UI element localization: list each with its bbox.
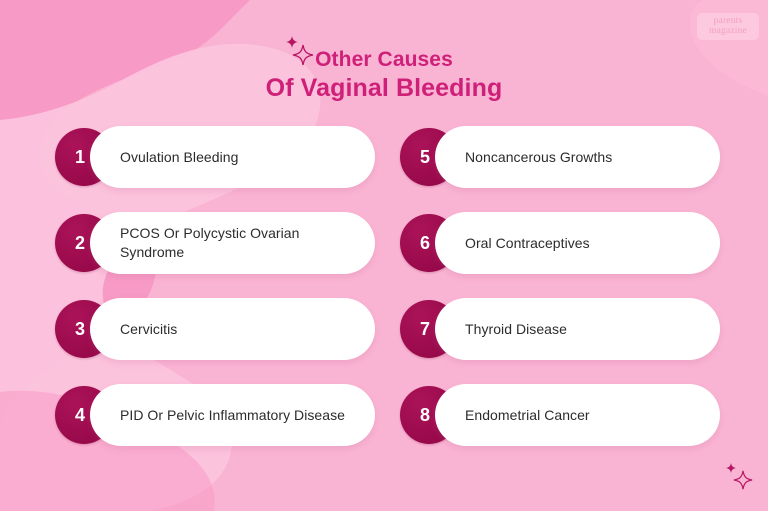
item-card[interactable]: Endometrial Cancer <box>435 384 720 446</box>
brand-logo-line2: magazine <box>709 27 747 37</box>
item-card[interactable]: Oral Contraceptives <box>435 212 720 274</box>
item-label: PCOS Or Polycystic Ovarian Syndrome <box>90 224 375 262</box>
item-card[interactable]: PID Or Pelvic Inflammatory Disease <box>90 384 375 446</box>
item-label: Thyroid Disease <box>435 320 585 339</box>
item-number: 4 <box>75 406 85 424</box>
item-number: 7 <box>420 320 430 338</box>
list-item[interactable]: 3 Cervicitis <box>55 298 385 360</box>
item-label: Oral Contraceptives <box>435 234 608 253</box>
item-label: PID Or Pelvic Inflammatory Disease <box>90 406 363 425</box>
item-number: 8 <box>420 406 430 424</box>
list-item[interactable]: 6 Oral Contraceptives <box>400 212 730 274</box>
item-card[interactable]: Ovulation Bleeding <box>90 126 375 188</box>
item-label: Noncancerous Growths <box>435 148 630 167</box>
sparkle-icon-top-large <box>292 44 314 66</box>
item-number: 5 <box>420 148 430 166</box>
item-card[interactable]: Noncancerous Growths <box>435 126 720 188</box>
list-item[interactable]: 2 PCOS Or Polycystic Ovarian Syndrome <box>55 212 385 274</box>
brand-logo: parents magazine <box>697 13 759 40</box>
item-number: 1 <box>75 148 85 166</box>
item-number: 3 <box>75 320 85 338</box>
item-number: 2 <box>75 234 85 252</box>
item-card[interactable]: PCOS Or Polycystic Ovarian Syndrome <box>90 212 375 274</box>
sparkle-icon-bottom-large <box>733 470 753 490</box>
list-item[interactable]: 5 Noncancerous Growths <box>400 126 730 188</box>
list-item[interactable]: 4 PID Or Pelvic Inflammatory Disease <box>55 384 385 446</box>
list-item[interactable]: 7 Thyroid Disease <box>400 298 730 360</box>
item-label: Cervicitis <box>90 320 195 339</box>
causes-column-right: 5 Noncancerous Growths 6 Oral Contracept… <box>400 126 730 470</box>
item-card[interactable]: Cervicitis <box>90 298 375 360</box>
causes-column-left: 1 Ovulation Bleeding 2 PCOS Or Polycysti… <box>55 126 385 470</box>
item-card[interactable]: Thyroid Disease <box>435 298 720 360</box>
list-item[interactable]: 1 Ovulation Bleeding <box>55 126 385 188</box>
list-item[interactable]: 8 Endometrial Cancer <box>400 384 730 446</box>
infographic-poster: parents magazine Other Causes Of Vaginal… <box>0 0 768 511</box>
item-number: 6 <box>420 234 430 252</box>
item-label: Ovulation Bleeding <box>90 148 256 167</box>
item-label: Endometrial Cancer <box>435 406 608 425</box>
